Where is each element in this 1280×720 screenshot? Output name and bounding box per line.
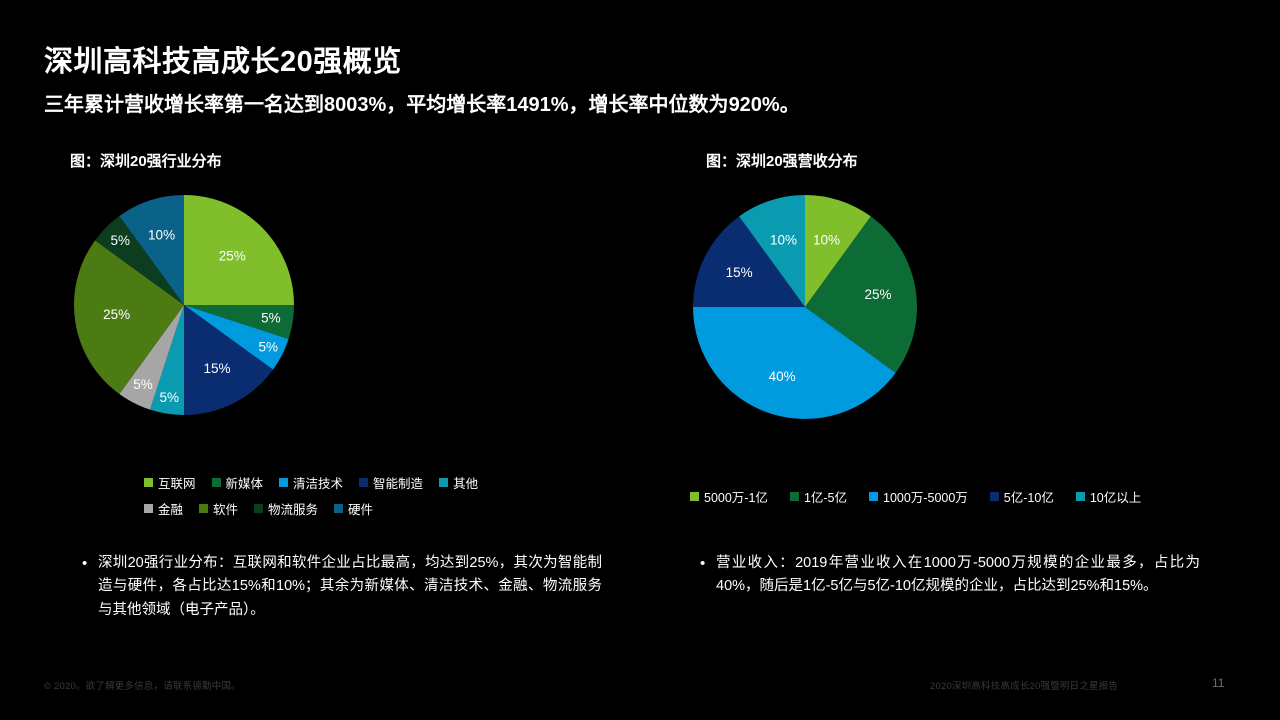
legend-swatch-icon [790,492,799,501]
industry-pie-wrap: 25%5%5%15%5%5%25%5%10% [44,177,624,467]
page-subtitle: 三年累计营收增长率第一名达到8003%，平均增长率1491%，增长率中位数为92… [44,88,800,117]
pie-slice-label: 25% [864,287,891,302]
legend-label: 10亿以上 [1090,487,1141,506]
bullet-marker: • [82,552,98,622]
legend-swatch-icon [869,492,878,501]
legend-swatch-icon [144,504,153,513]
list-item: • 深圳20强行业分布：互联网和软件企业占比最高，均达到25%，其次为智能制造与… [82,552,602,622]
legend-label: 5亿-10亿 [1004,487,1054,506]
legend-item[interactable]: 其他 [439,473,478,492]
subtitle-text: ，平均增长率 [386,94,506,116]
pie-slice-label: 10% [770,233,797,248]
pie-slice-label: 10% [813,233,840,248]
industry-panel: 图：深圳20强行业分布 25%5%5%15%5%5%25%5%10% 互联网新媒… [44,150,624,518]
slide-canvas: 深圳高科技高成长20强概览 三年累计营收增长率第一名达到8003%，平均增长率1… [0,0,1280,720]
industry-pie-chart: 25%5%5%15%5%5%25%5%10% [44,177,624,467]
legend-swatch-icon [990,492,999,501]
pie-slice-label: 15% [726,265,753,280]
legend-item[interactable]: 硬件 [334,499,373,518]
revenue-panel: 图：深圳20强营收分布 10%25%40%15%10% 5000万-1亿1亿-5… [690,150,1250,506]
pie-slice-label: 5% [133,377,153,392]
pie-slice-label: 40% [769,369,796,384]
revenue-bullet-list: • 营业收入：2019年营业收入在1000万-5000万规模的企业最多，占比为4… [700,552,1200,599]
subtitle-highlight: 920% [729,94,780,116]
legend-swatch-icon [144,478,153,487]
legend-label: 智能制造 [373,473,423,492]
legend-item[interactable]: 1000万-5000万 [869,487,968,506]
legend-item[interactable]: 5000万-1亿 [690,487,768,506]
legend-label: 清洁技术 [293,473,343,492]
page-title: 深圳高科技高成长20强概览 [44,38,402,80]
legend-item[interactable]: 智能制造 [359,473,423,492]
industry-chart-title: 图：深圳20强行业分布 [70,150,624,171]
page-number: 11 [1212,676,1224,690]
legend-label: 金融 [158,499,183,518]
subtitle-highlight: 1491% [506,94,568,116]
subtitle-text: 。 [780,94,800,116]
legend-label: 软件 [213,499,238,518]
legend-swatch-icon [1076,492,1085,501]
legend-item[interactable]: 互联网 [144,473,196,492]
legend-item[interactable]: 10亿以上 [1076,487,1141,506]
legend-swatch-icon [690,492,699,501]
legend-item[interactable]: 物流服务 [254,499,318,518]
legend-label: 新媒体 [226,473,264,492]
legend-label: 其他 [453,473,478,492]
legend-swatch-icon [254,504,263,513]
revenue-chart-title: 图：深圳20强营收分布 [706,150,1250,171]
legend-label: 硬件 [348,499,373,518]
pie-slice-label: 15% [203,361,230,376]
list-item: • 营业收入：2019年营业收入在1000万-5000万规模的企业最多，占比为4… [700,552,1200,599]
legend-item[interactable]: 新媒体 [212,473,264,492]
pie-slice-label: 25% [219,248,246,263]
legend-label: 1亿-5亿 [804,487,847,506]
legend-label: 5000万-1亿 [704,487,768,506]
pie-slice-label: 25% [103,307,130,322]
legend-item[interactable]: 清洁技术 [279,473,343,492]
bullet-marker: • [700,552,716,599]
footer-copyright: © 2020。欲了解更多信息，请联系德勤中国。 [44,678,241,692]
pie-slice-label: 5% [110,233,130,248]
industry-legend: 互联网新媒体清洁技术智能制造其他金融软件物流服务硬件 [144,473,504,518]
industry-bullet-text: 深圳20强行业分布：互联网和软件企业占比最高，均达到25%，其次为智能制造与硬件… [98,552,602,622]
subtitle-highlight: 8003% [324,94,386,116]
pie-slice-label: 5% [261,310,281,325]
legend-item[interactable]: 金融 [144,499,183,518]
legend-swatch-icon [359,478,368,487]
pie-slice-label: 10% [148,228,175,243]
legend-label: 1000万-5000万 [883,487,968,506]
legend-swatch-icon [439,478,448,487]
legend-item[interactable]: 软件 [199,499,238,518]
legend-item[interactable]: 1亿-5亿 [790,487,847,506]
revenue-bullet-text: 营业收入：2019年营业收入在1000万-5000万规模的企业最多，占比为40%… [716,552,1200,599]
subtitle-text: ，增长率中位数为 [569,94,729,116]
pie-slice-label: 5% [159,390,179,405]
legend-label: 互联网 [158,473,196,492]
legend-swatch-icon [212,478,221,487]
legend-swatch-icon [199,504,208,513]
legend-label: 物流服务 [268,499,318,518]
legend-swatch-icon [334,504,343,513]
footer-report-name: 2020深圳高科技高成长20强暨明日之星报告 [930,678,1118,692]
legend-item[interactable]: 5亿-10亿 [990,487,1054,506]
industry-bullet-list: • 深圳20强行业分布：互联网和软件企业占比最高，均达到25%，其次为智能制造与… [82,552,602,622]
legend-swatch-icon [279,478,288,487]
pie-slice-label: 5% [259,340,279,355]
subtitle-text: 三年累计营收增长率第一名达到 [44,94,324,116]
revenue-pie-chart: 10%25%40%15%10% [690,177,1250,477]
revenue-pie-wrap: 10%25%40%15%10% [690,177,1250,477]
revenue-legend: 5000万-1亿1亿-5亿1000万-5000万5亿-10亿10亿以上 [690,487,1220,506]
